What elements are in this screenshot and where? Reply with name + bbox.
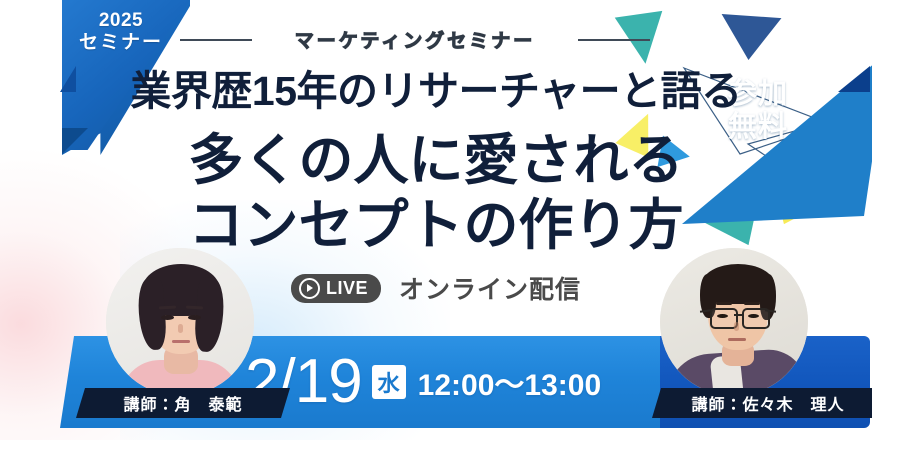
schedule-info: 2/19 水 12:00〜13:00 [245, 336, 665, 428]
ribbon-label: 2025 セミナー [62, 10, 180, 55]
seminar-banner: 参加 無料 2025 セミナー マーケティングセミナー 業界歴15年のリサーチャ… [0, 0, 920, 450]
ribbon-word: セミナー [62, 32, 180, 54]
play-icon [299, 278, 320, 299]
eyebrow-text: マーケティングセミナー [264, 26, 566, 53]
triangle-navy-top [719, 14, 782, 62]
speaker-photo-left [106, 248, 254, 396]
eyebrow-row: マーケティングセミナー [180, 26, 650, 53]
event-time: 12:00〜13:00 [418, 360, 601, 404]
online-delivery-text: オンライン配信 [399, 270, 581, 306]
live-label: LIVE [326, 278, 368, 299]
event-day-of-week: 水 [372, 365, 406, 399]
live-badge: LIVE [291, 274, 381, 303]
speaker-photo-right [660, 248, 808, 396]
speaker-tag-left: 講師：角 泰範 [76, 388, 290, 418]
banner-card: 参加 無料 2025 セミナー マーケティングセミナー 業界歴15年のリサーチャ… [0, 0, 872, 440]
eyebrow-rule-right [578, 39, 650, 41]
speaker-tag-right: 講師：佐々木 理人 [652, 388, 872, 418]
ribbon-year: 2025 [62, 10, 180, 32]
headline-line-1: 業界歴15年のリサーチャーと語る [0, 57, 872, 117]
eyebrow-rule-left [180, 39, 252, 41]
